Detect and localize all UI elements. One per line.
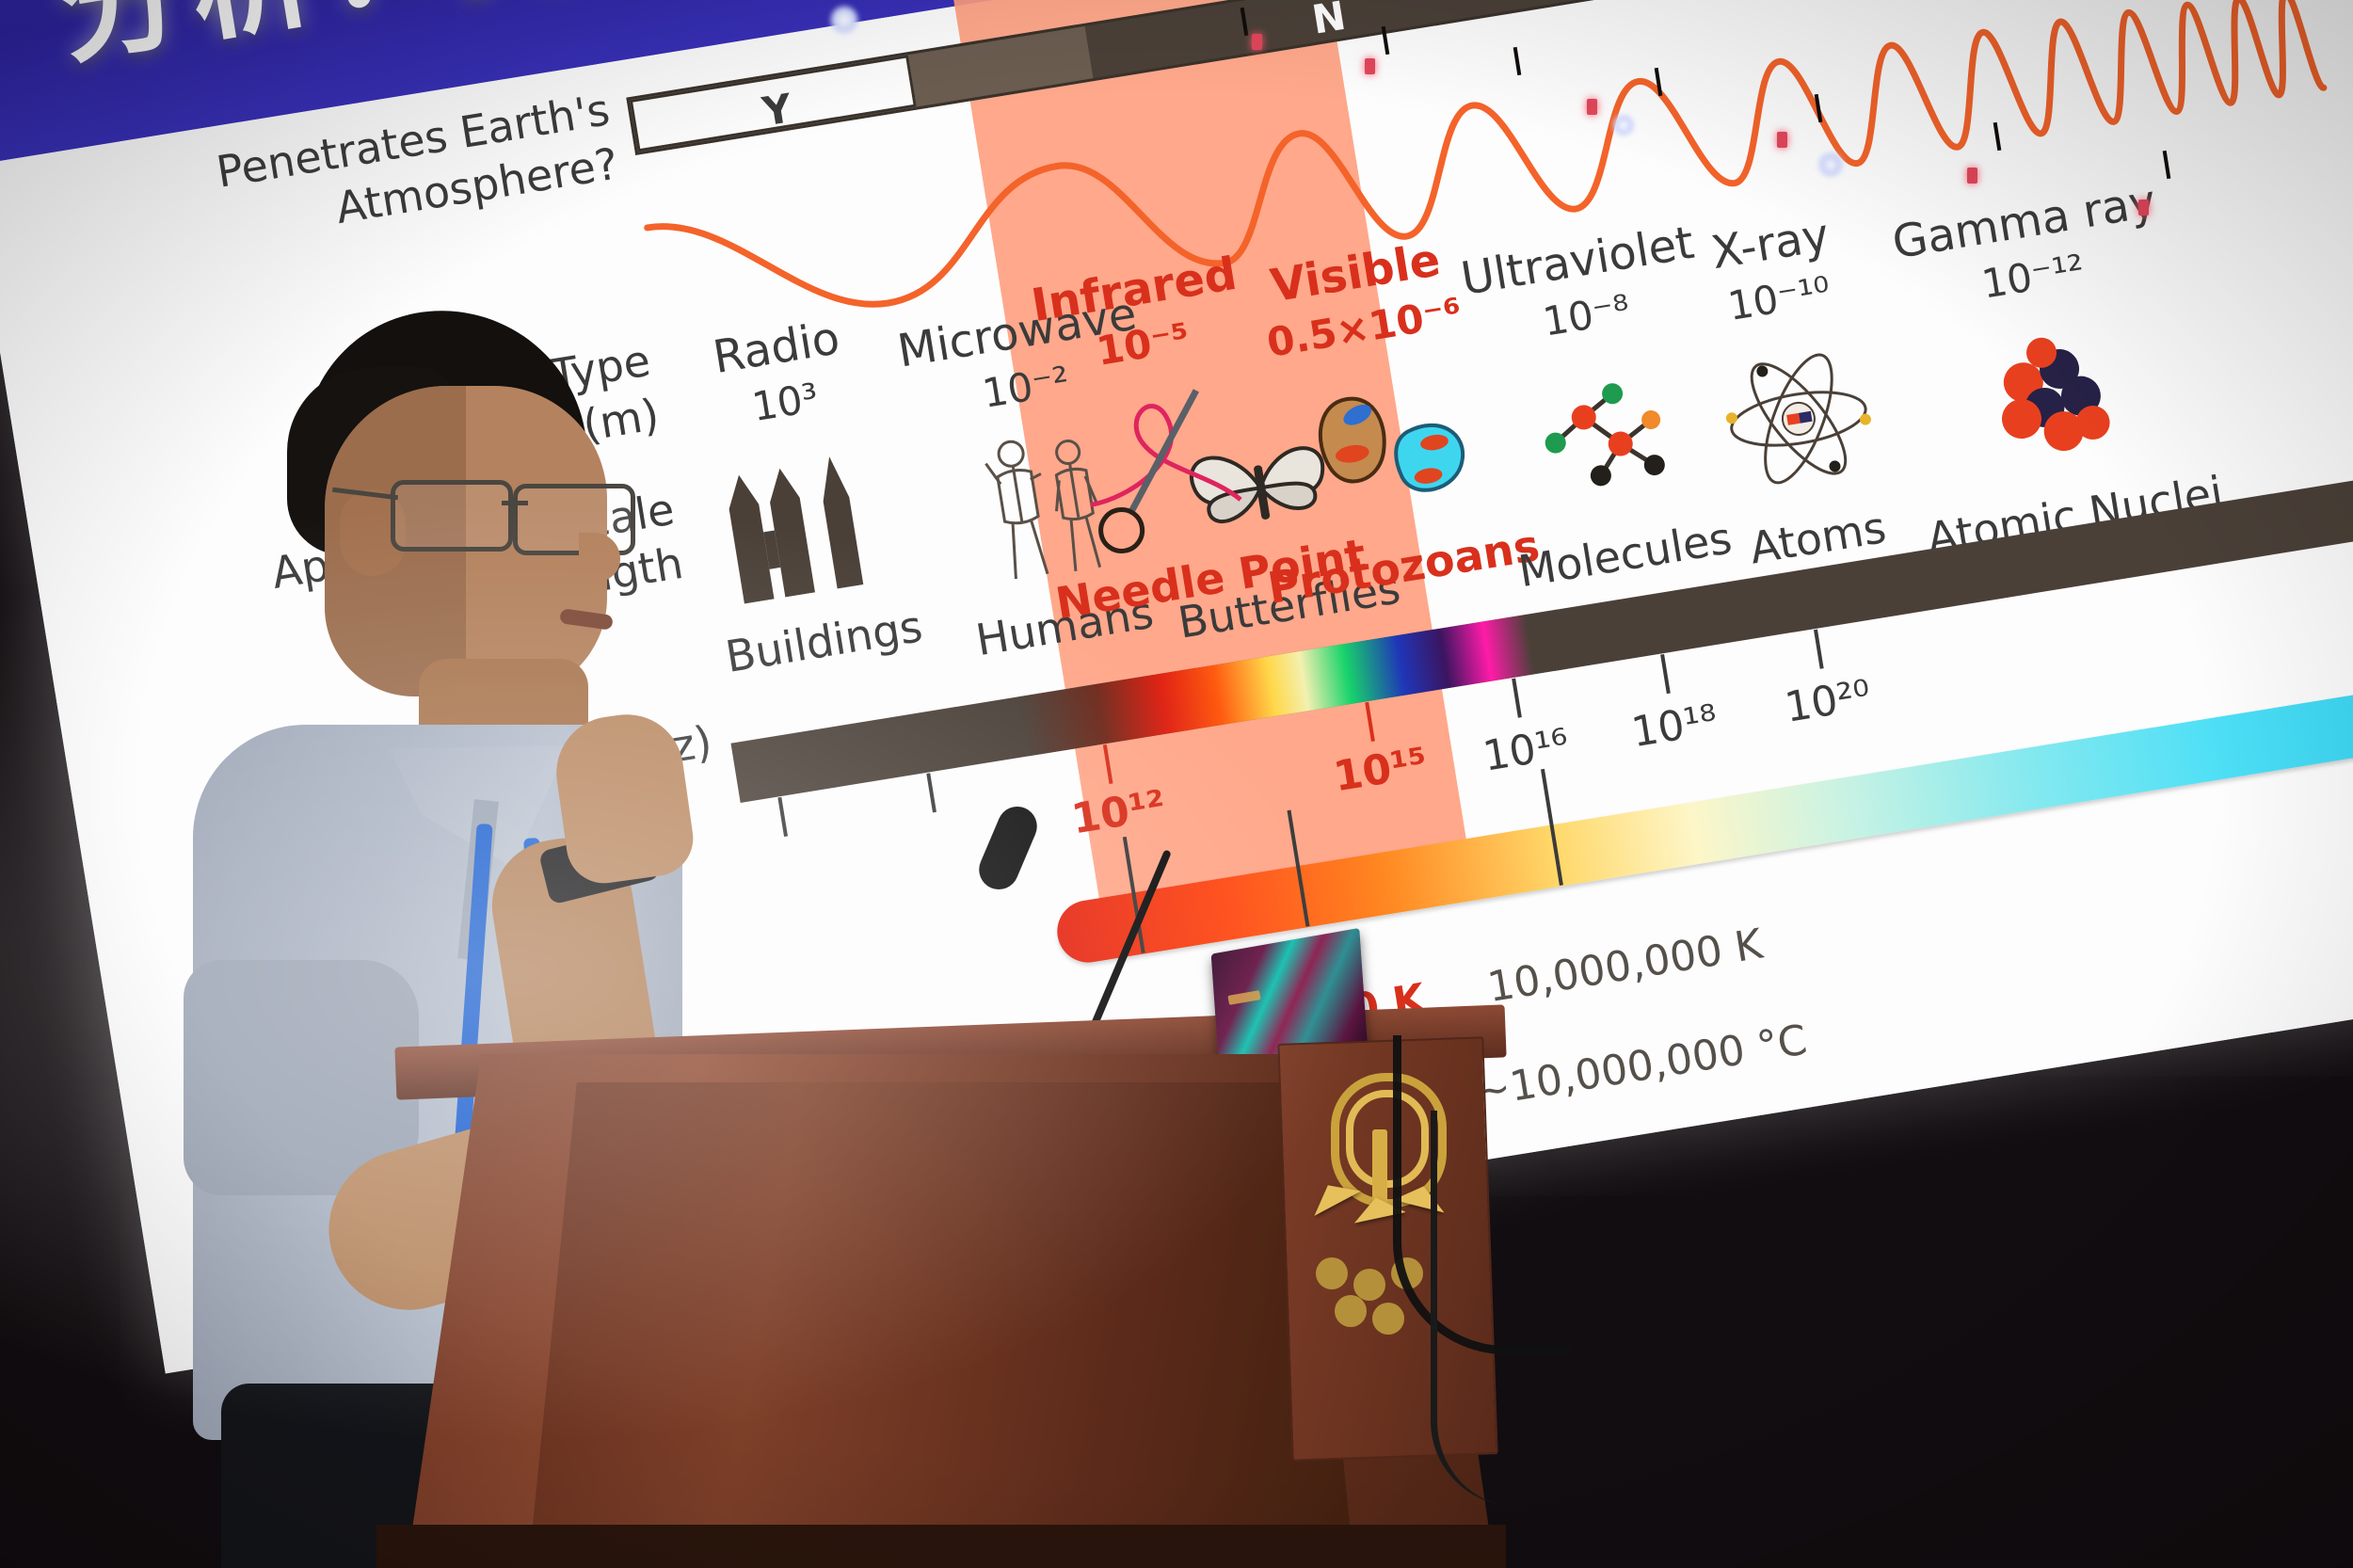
truss-led xyxy=(1967,168,1977,184)
emblem-ornament xyxy=(1372,1303,1404,1335)
spectrum-item-gamma: Gamma ray 10⁻¹² Atomic Nuclei xyxy=(1876,173,2219,565)
eyeglass-bridge xyxy=(502,501,528,505)
penetration-segment-y1: Y xyxy=(630,55,917,152)
atom-icon xyxy=(1668,312,1929,526)
eyeglass-lens-right xyxy=(513,484,635,555)
emblem-ornament xyxy=(1316,1257,1348,1289)
penetration-label-y1: Y xyxy=(760,85,795,135)
emblem-ornament xyxy=(1353,1269,1385,1301)
temperature-kelvin-10m: 10,000,000 K xyxy=(1484,920,1766,1012)
truss-led xyxy=(1252,34,1262,50)
stage-spotlight xyxy=(828,4,860,36)
power-cable-secondary xyxy=(1431,1111,1550,1506)
truss-led xyxy=(1587,99,1597,115)
frequency-label-1e16: 10¹⁶ xyxy=(1480,720,1572,781)
stage-floor-shadow xyxy=(376,1525,1506,1568)
truss-led xyxy=(2138,200,2149,216)
frequency-tick-7 xyxy=(1814,630,1824,669)
truss-led xyxy=(1365,58,1375,74)
frequency-label-1e18: 10¹⁸ xyxy=(1628,696,1721,757)
eyeglass-lens-left xyxy=(391,480,513,552)
raised-hand xyxy=(549,707,697,888)
stage-spotlight xyxy=(1611,113,1636,137)
presentation-photo: 分析：光谱和微观结构、动力学 Penetrates Earth's Atmosp… xyxy=(0,0,2353,1568)
penetration-label-n1: N xyxy=(1309,0,1350,43)
frequency-label-1e20: 10²⁰ xyxy=(1782,671,1874,732)
frequency-tick-2 xyxy=(926,773,936,812)
truss-led xyxy=(1777,132,1787,148)
podium-front-face xyxy=(527,1082,1355,1568)
emblem-ornament xyxy=(1335,1295,1367,1327)
stage-spotlight xyxy=(1817,151,1845,179)
frequency-tick-6 xyxy=(1660,654,1671,694)
frequency-tick-5 xyxy=(1512,679,1522,718)
